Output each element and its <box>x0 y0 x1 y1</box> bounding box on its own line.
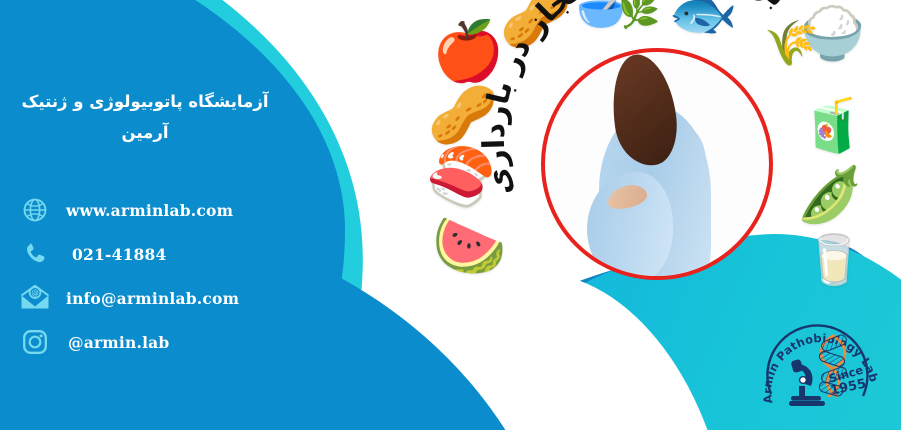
salmon-steak-image: 🍣 <box>426 150 496 206</box>
promo-banner: 🥜 🥣 🌿 🐟 🍚 🌾 🧃 🫛 🥛 🍎 <box>0 0 901 430</box>
parsley-herb-image: 🌿 <box>618 0 660 28</box>
peanuts-icon: 🥜 <box>428 88 498 144</box>
salmon-icon: 🍣 <box>426 150 496 206</box>
left-info-panel: آزمایشگاه پاتوبیولوژی و ژنتیک آرمین www.… <box>0 0 300 430</box>
juice-icon: 🧃 <box>800 100 865 152</box>
lab-title: آزمایشگاه پاتوبیولوژی و ژنتیک آرمین <box>0 86 290 149</box>
svg-text:@: @ <box>31 289 39 298</box>
instagram-label: @armin.lab <box>68 333 169 352</box>
lab-title-line-1: آزمایشگاه پاتوبیولوژی و ژنتیک <box>0 86 290 117</box>
mixed-fruit-image: 🍎 <box>432 22 504 80</box>
website-label: www.arminlab.com <box>66 201 233 220</box>
contact-list: www.arminlab.com 021-41884 <box>0 188 300 364</box>
wheat-icon: 🌾 <box>764 22 819 66</box>
parsley-icon: 🌿 <box>618 0 660 28</box>
globe-icon <box>18 193 52 227</box>
fruit-icon: 🍎 <box>432 22 504 80</box>
green-peas-image: 🫛 <box>796 168 863 222</box>
microscope-icon <box>789 359 825 406</box>
watermelon-icon: 🍉 <box>432 216 507 276</box>
whole-fish-image: 🐟 <box>668 0 738 40</box>
watermelon-image: 🍉 <box>432 216 507 276</box>
wheat-crackers-image: 🌾 <box>764 22 819 66</box>
peanuts-pile-image: 🥜 <box>428 88 498 144</box>
milk-icon: 🥛 <box>804 236 864 284</box>
contact-row-website[interactable]: www.arminlab.com <box>0 188 300 232</box>
instagram-icon <box>18 325 52 359</box>
phone-icon <box>18 237 52 271</box>
envelope-at-icon: @ <box>18 281 52 315</box>
pregnant-woman-portrait <box>541 48 773 280</box>
contact-row-phone[interactable]: 021-41884 <box>0 232 300 276</box>
fish-icon: 🐟 <box>668 0 738 40</box>
contact-row-email[interactable]: @ info@arminlab.com <box>0 276 300 320</box>
apple-juice-image: 🧃 <box>800 100 865 152</box>
peas-icon: 🫛 <box>796 168 863 222</box>
mixed-nuts-pile-image: 🥜 <box>500 0 572 46</box>
email-label: info@arminlab.com <box>66 289 239 308</box>
contact-row-instagram[interactable]: @armin.lab <box>0 320 300 364</box>
phone-label: 021-41884 <box>72 245 167 264</box>
lab-title-line-2: آرمین <box>0 117 290 148</box>
lab-logo: Armin Pathobiology Lab <box>759 312 885 424</box>
mixed-nuts-icon: 🥜 <box>500 0 572 46</box>
portrait-figure <box>585 60 735 280</box>
milk-glass-image: 🥛 <box>804 236 864 284</box>
